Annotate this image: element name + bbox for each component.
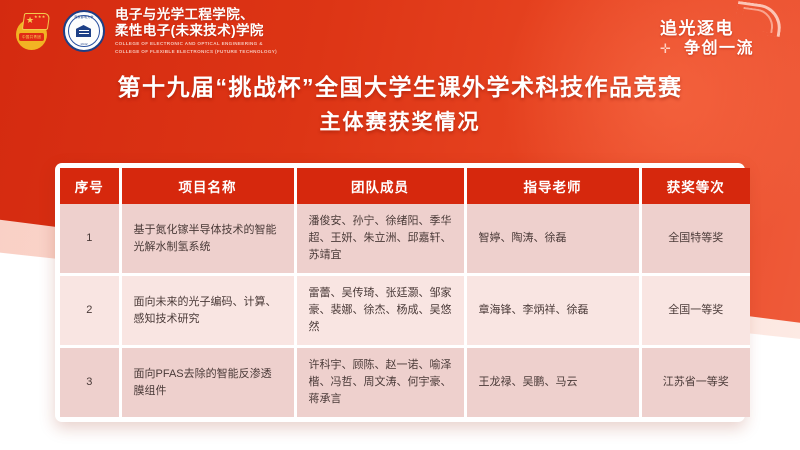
page-title-block: 第十九届“挑战杯”全国大学生课外学术科技作品竞赛 主体赛获奖情况 [0,72,800,138]
cell-award: 江苏省一等奖 [640,347,750,418]
award-table-head: 序号 项目名称 团队成员 指导老师 获奖等次 [60,168,750,204]
cell-index: 2 [60,275,120,347]
league-mini-stars-icon: ★★★ [34,15,46,19]
table-header-row: 序号 项目名称 团队成员 指导老师 获奖等次 [60,168,750,204]
column-header-mentor: 指导老师 [465,168,640,204]
league-star-icon: ★ [26,16,34,25]
award-table: 序号 项目名称 团队成员 指导老师 获奖等次 1 基于氮化镓半导体技术的智能光解… [60,168,750,417]
emblem-group: ★ ★★★ 中国共青团 南京邮电大学 1942 [14,10,105,52]
column-header-team: 团队成员 [295,168,465,204]
college-name-cn-line1: 电子与光学工程学院、 [115,7,277,23]
seal-arc-top-label: 南京邮电大学 [65,16,103,19]
award-table-card: 序号 项目名称 团队成员 指导老师 获奖等次 1 基于氮化镓半导体技术的智能光解… [55,163,745,422]
cell-project: 基于氮化镓半导体技术的智能光解水制氢系统 [120,204,295,275]
slogan-line-2: 争创一流 [684,34,754,58]
cell-mentor: 王龙禄、吴鹏、马云 [465,347,640,418]
column-header-index: 序号 [60,168,120,204]
cell-mentor: 智婷、陶涛、徐磊 [465,204,640,275]
slogan-block: 追光逐电 ✛ 争创一流 [636,2,786,60]
university-seal-icon: 南京邮电大学 1942 [63,10,105,52]
top-header-bar: ★ ★★★ 中国共青团 南京邮电大学 1942 电子与光学工程学院、 柔性电子(… [0,0,800,62]
cell-project: 面向PFAS去除的智能反渗透膜组件 [120,347,295,418]
college-name-block: 电子与光学工程学院、 柔性电子(未来技术)学院 COLLEGE OF ELECT… [115,7,277,56]
table-row: 2 面向未来的光子编码、计算、感知技术研究 雷蕾、吴传琦、张廷灏、邹家豪、裴娜、… [60,275,750,347]
cell-project: 面向未来的光子编码、计算、感知技术研究 [120,275,295,347]
column-header-award: 获奖等次 [640,168,750,204]
slogan-plus-icon: ✛ [660,42,671,55]
table-row: 3 面向PFAS去除的智能反渗透膜组件 许科宇、顾陈、赵一诺、喻泽楷、冯哲、周文… [60,347,750,418]
cell-award: 全国特等奖 [640,204,750,275]
cell-team: 许科宇、顾陈、赵一诺、喻泽楷、冯哲、周文涛、何宇豪、蒋承言 [295,347,465,418]
college-name-cn-line2: 柔性电子(未来技术)学院 [115,23,277,39]
league-ribbon: 中国共青团 [19,33,44,41]
column-header-project: 项目名称 [120,168,295,204]
award-table-body: 1 基于氮化镓半导体技术的智能光解水制氢系统 潘俊安、孙宁、徐绪阳、季华超、王妍… [60,204,750,417]
college-name-en-line1: COLLEGE OF ELECTRONIC AND OPTICAL ENGINE… [115,41,277,47]
cell-award: 全国一等奖 [640,275,750,347]
cell-team: 潘俊安、孙宁、徐绪阳、季华超、王妍、朱立洲、邱嘉轩、苏靖宜 [295,204,465,275]
page-subtitle: 主体赛获奖情况 [0,108,800,138]
league-ribbon-label: 中国共青团 [19,33,44,41]
cell-mentor: 章海锋、李炳祥、徐磊 [465,275,640,347]
college-name-en-line2: COLLEGE OF FLEXIBLE ELECTRONICS (FUTURE … [115,49,277,55]
page-title: 第十九届“挑战杯”全国大学生课外学术科技作品竞赛 [0,72,800,102]
youth-league-emblem-icon: ★ ★★★ 中国共青团 [14,11,54,51]
table-row: 1 基于氮化镓半导体技术的智能光解水制氢系统 潘俊安、孙宁、徐绪阳、季华超、王妍… [60,204,750,275]
cell-team: 雷蕾、吴传琦、张廷灏、邹家豪、裴娜、徐杰、杨成、吴悠然 [295,275,465,347]
seal-arc-bottom-label: 1942 [65,43,103,46]
cell-index: 3 [60,347,120,418]
cell-index: 1 [60,204,120,275]
